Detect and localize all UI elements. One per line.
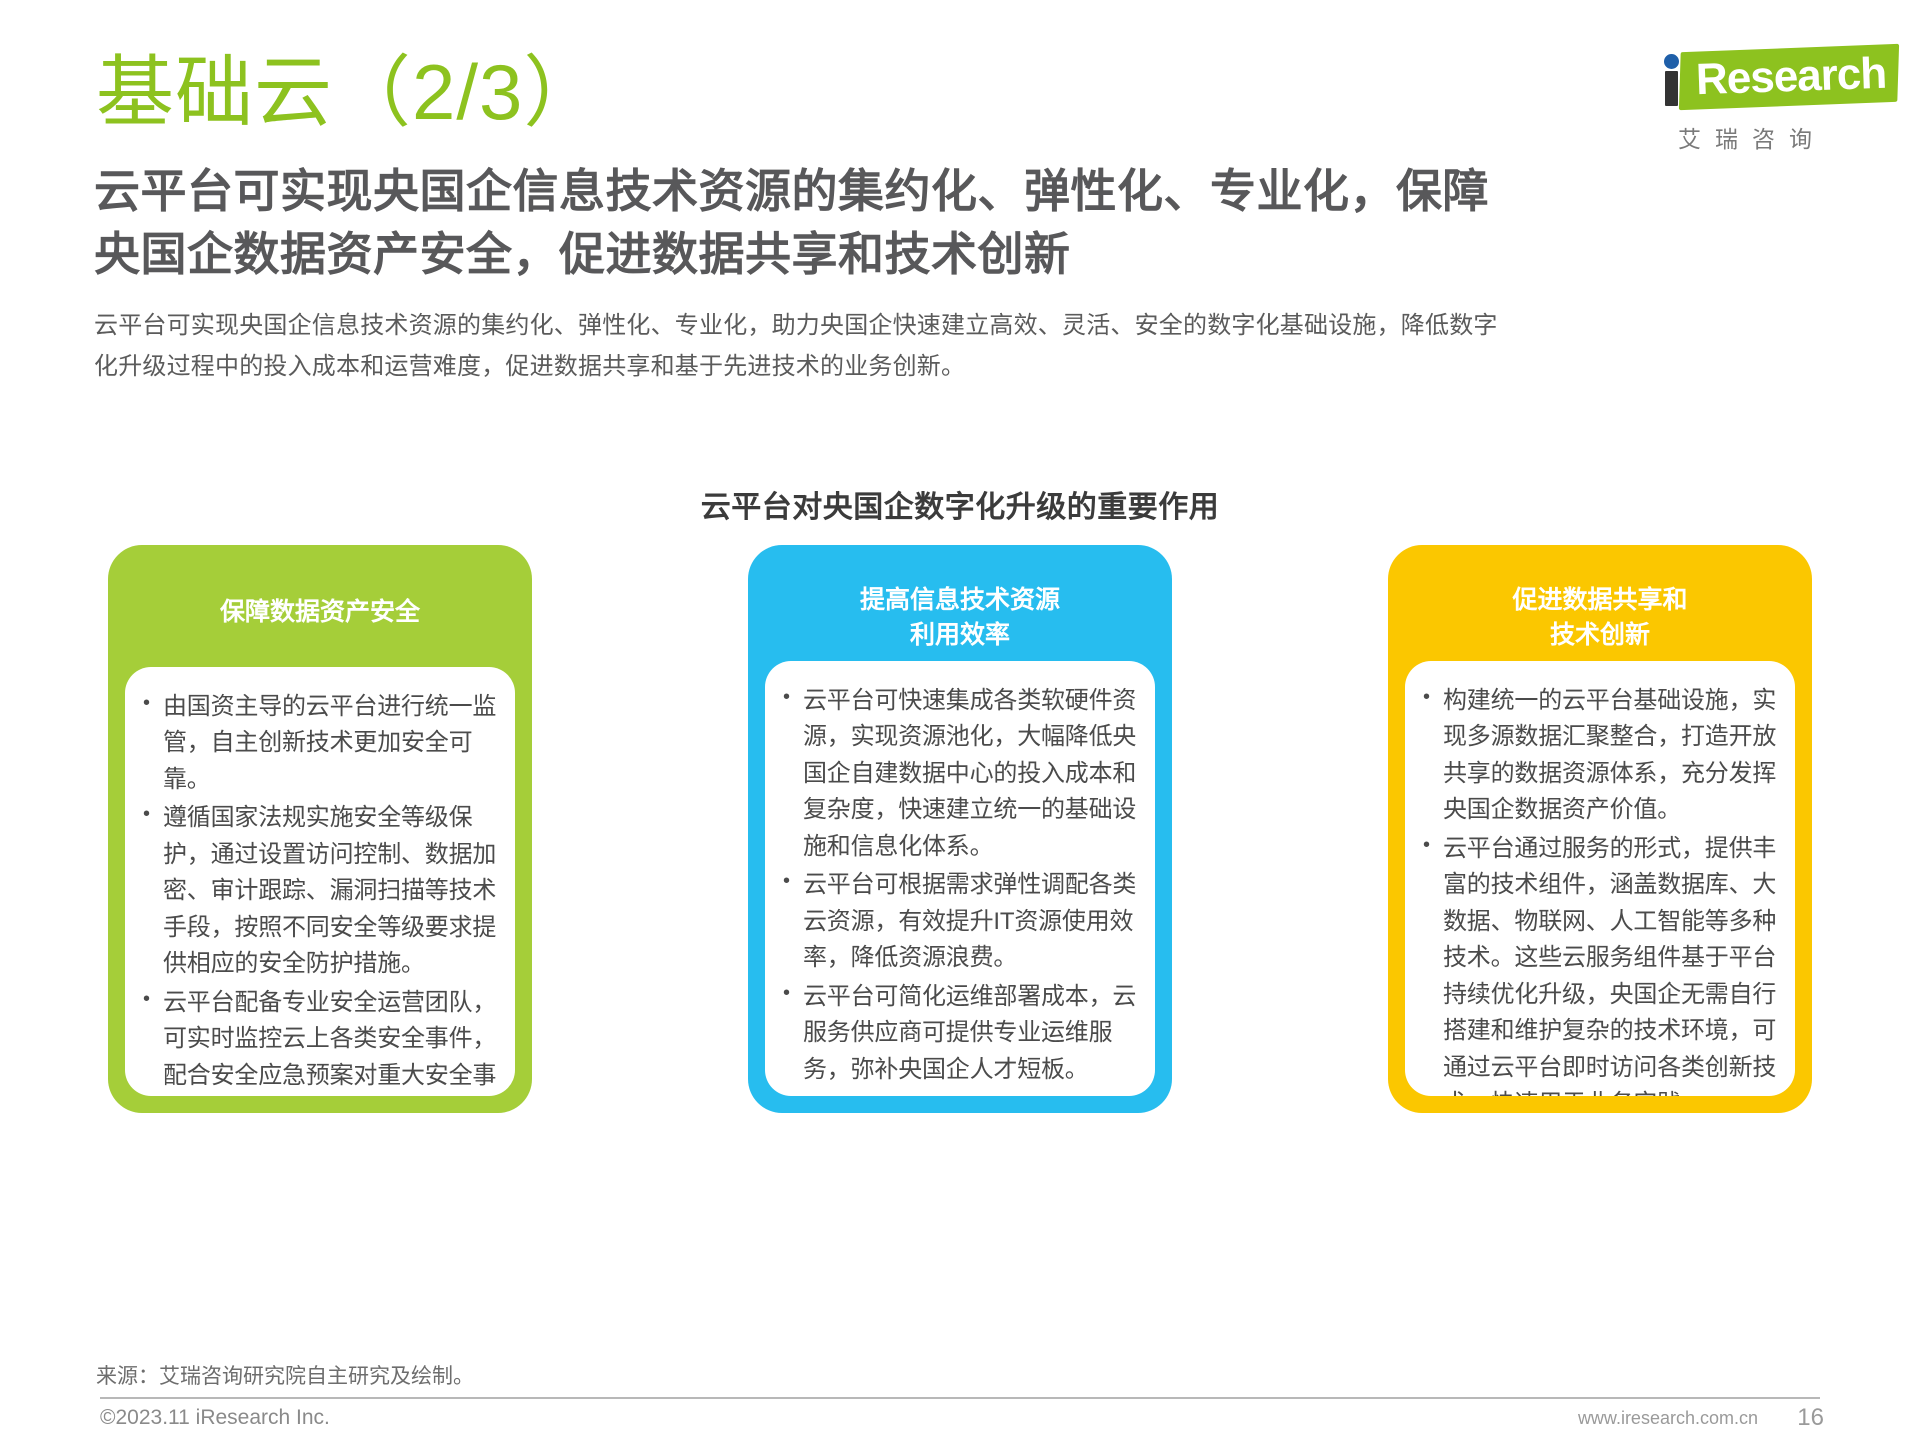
card-body-0: 由国资主导的云平台进行统一监管，自主创新技术更加安全可靠。 遵循国家法规实施安全… (125, 667, 515, 1096)
list-item: 云平台可快速集成各类软硬件资源，实现资源池化，大幅降低央国企自建数据中心的投入成… (777, 683, 1137, 865)
slide-root: Research 艾瑞咨询 基础云（2/3） 云平台可实现央国企信息技术资源的集… (0, 0, 1920, 1440)
list-item: 构建统一的云平台基础设施，实现多源数据汇聚整合，打造开放共享的数据资源体系，充分… (1417, 683, 1777, 829)
card-header-1: 提高信息技术资源 利用效率 (748, 565, 1172, 657)
list-item: 遵循国家法规实施安全等级保护，通过设置访问控制、数据加密、审计跟踪、漏洞扫描等技… (137, 800, 497, 982)
card-header-0: 保障数据资产安全 (108, 565, 532, 657)
footer-divider (100, 1397, 1820, 1399)
list-item: 云平台配备专业安全运营团队，可实时监控云上各类安全事件，配合安全应急预案对重大安… (137, 985, 497, 1096)
logo-wordmark: Research (1695, 49, 1887, 106)
body-paragraph: 云平台可实现央国企信息技术资源的集约化、弹性化、专业化，助力央国企快速建立高效、… (94, 305, 1514, 388)
card-it-resource-efficiency: 提高信息技术资源 利用效率 云平台可快速集成各类软硬件资源，实现资源池化，大幅降… (748, 545, 1172, 1113)
footer-website: www.iresearch.com.cn (1578, 1408, 1758, 1429)
page-subtitle: 云平台可实现央国企信息技术资源的集约化、弹性化、专业化，保障央国企数据资产安全，… (94, 160, 1494, 287)
card-body-2: 构建统一的云平台基础设施，实现多源数据汇聚整合，打造开放共享的数据资源体系，充分… (1405, 661, 1795, 1096)
card-group: 保障数据资产安全 由国资主导的云平台进行统一监管，自主创新技术更加安全可靠。 遵… (108, 545, 1812, 1113)
diagram-title: 云平台对央国企数字化升级的重要作用 (0, 482, 1920, 526)
iresearch-logo: Research 艾瑞咨询 (1652, 38, 1902, 156)
logo-i-dot-icon (1664, 54, 1679, 69)
list-item: 云平台通过服务的形式，提供丰富的技术组件，涵盖数据库、大数据、物联网、人工智能等… (1417, 831, 1777, 1096)
card-header-2: 促进数据共享和 技术创新 (1388, 565, 1812, 657)
bullet-list-0: 由国资主导的云平台进行统一监管，自主创新技术更加安全可靠。 遵循国家法规实施安全… (137, 689, 497, 1096)
list-item: 由国资主导的云平台进行统一监管，自主创新技术更加安全可靠。 (137, 689, 497, 798)
card-data-asset-security: 保障数据资产安全 由国资主导的云平台进行统一监管，自主创新技术更加安全可靠。 遵… (108, 545, 532, 1113)
page-title: 基础云（2/3） (96, 52, 602, 134)
source-note: 来源：艾瑞咨询研究院自主研究及绘制。 (96, 1360, 474, 1390)
logo-mark: Research (1652, 38, 1902, 114)
bullet-list-1: 云平台可快速集成各类软硬件资源，实现资源池化，大幅降低央国企自建数据中心的投入成… (777, 683, 1137, 1088)
bullet-list-2: 构建统一的云平台基础设施，实现多源数据汇聚整合，打造开放共享的数据资源体系，充分… (1417, 683, 1777, 1096)
list-item: 云平台可简化运维部署成本，云服务供应商可提供专业运维服务，弥补央国企人才短板。 (777, 979, 1137, 1088)
list-item: 云平台可根据需求弹性调配各类云资源，有效提升IT资源使用效率，降低资源浪费。 (777, 867, 1137, 976)
logo-chinese-name: 艾瑞咨询 (1678, 120, 1826, 154)
footer-copyright: ©2023.11 iResearch Inc. (100, 1406, 330, 1430)
card-body-1: 云平台可快速集成各类软硬件资源，实现资源池化，大幅降低央国企自建数据中心的投入成… (765, 661, 1155, 1096)
footer-page-number: 16 (1797, 1404, 1824, 1432)
card-data-sharing-innovation: 促进数据共享和 技术创新 构建统一的云平台基础设施，实现多源数据汇聚整合，打造开… (1388, 545, 1812, 1113)
logo-i-stem-icon (1665, 71, 1678, 106)
